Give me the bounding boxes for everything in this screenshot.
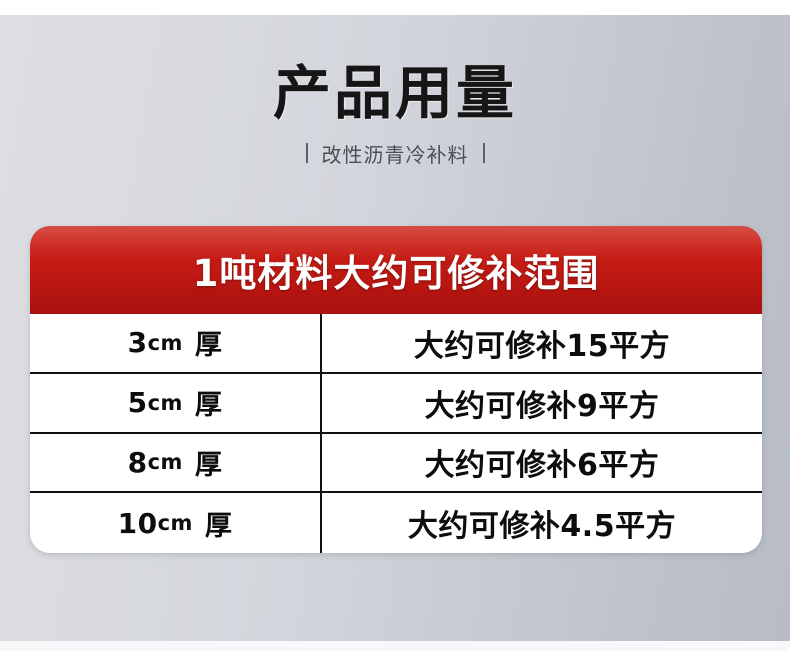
header-block: 产品用量 改性沥青冷补料 bbox=[0, 60, 790, 168]
thickness-value: 3 bbox=[128, 326, 148, 359]
thickness-unit: cm bbox=[148, 391, 183, 415]
thickness-value: 5 bbox=[128, 386, 148, 419]
usage-table-card: 1吨材料大约可修补范围 3cm厚 大约可修补15平方 5cm厚 大约可修补9平方… bbox=[30, 226, 762, 553]
thickness-value: 10 bbox=[118, 507, 158, 540]
cell-area: 大约可修补15平方 bbox=[322, 314, 762, 372]
product-usage-infographic: 产品用量 改性沥青冷补料 1吨材料大约可修补范围 3cm厚 大约可修补15平方 … bbox=[0, 0, 790, 651]
cell-thickness: 3cm厚 bbox=[30, 314, 322, 372]
table-row: 8cm厚 大约可修补6平方 bbox=[30, 434, 762, 494]
top-white-strip bbox=[0, 0, 790, 15]
thickness-value: 8 bbox=[128, 446, 148, 479]
page-subtitle: 改性沥青冷补料 bbox=[322, 139, 469, 168]
thickness-unit: cm bbox=[148, 450, 183, 474]
table-row: 3cm厚 大约可修补15平方 bbox=[30, 314, 762, 374]
cell-thickness: 10cm厚 bbox=[30, 493, 322, 553]
cell-area: 大约可修补4.5平方 bbox=[322, 493, 762, 553]
thickness-unit: cm bbox=[148, 331, 183, 355]
thickness-label: 厚 bbox=[205, 504, 233, 543]
thickness-label: 厚 bbox=[195, 323, 223, 362]
card-banner: 1吨材料大约可修补范围 bbox=[30, 226, 762, 314]
thickness-label: 厚 bbox=[195, 383, 223, 422]
subtitle-left-rule-icon bbox=[306, 143, 308, 163]
table-row: 10cm厚 大约可修补4.5平方 bbox=[30, 493, 762, 553]
thickness-unit: cm bbox=[158, 511, 193, 535]
banner-title: 1吨材料大约可修补范围 bbox=[193, 243, 600, 297]
cell-thickness: 5cm厚 bbox=[30, 374, 322, 432]
page-title: 产品用量 bbox=[0, 60, 790, 127]
subtitle-row: 改性沥青冷补料 bbox=[0, 139, 790, 168]
cell-area: 大约可修补9平方 bbox=[322, 374, 762, 432]
thickness-label: 厚 bbox=[195, 443, 223, 482]
cell-thickness: 8cm厚 bbox=[30, 434, 322, 492]
table-row: 5cm厚 大约可修补9平方 bbox=[30, 374, 762, 434]
subtitle-right-rule-icon bbox=[483, 143, 485, 163]
usage-table: 3cm厚 大约可修补15平方 5cm厚 大约可修补9平方 8cm厚 大约可修补6… bbox=[30, 314, 762, 553]
cell-area: 大约可修补6平方 bbox=[322, 434, 762, 492]
bottom-white-strip bbox=[0, 641, 790, 651]
